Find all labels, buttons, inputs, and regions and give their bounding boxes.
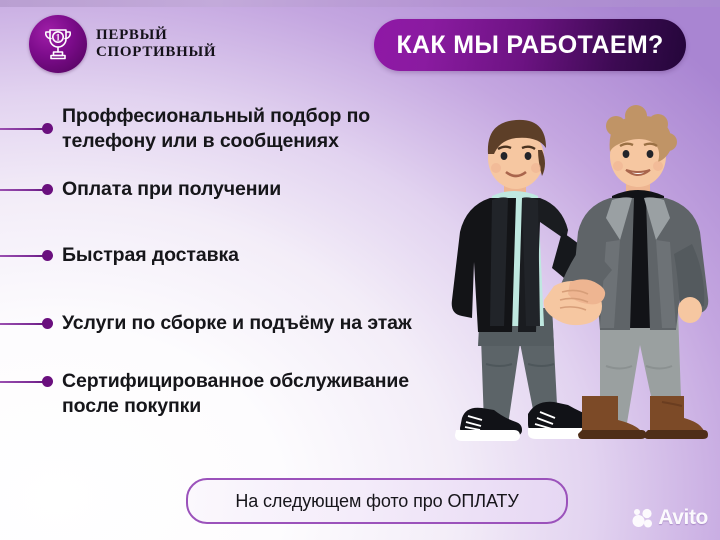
list-item: Услуги по сборке и подъёму на этаж bbox=[0, 311, 450, 351]
left-eye-l bbox=[501, 152, 508, 160]
top-accent-strip bbox=[0, 0, 720, 7]
list-item: Проффесиональный подбор по телефону или … bbox=[0, 104, 450, 155]
right-person bbox=[558, 105, 708, 439]
list-item: Быстрая доставка bbox=[0, 243, 450, 283]
left-eye-r bbox=[525, 152, 532, 160]
avito-watermark: Avito bbox=[632, 506, 708, 530]
left-person-head bbox=[488, 120, 546, 189]
avito-wordmark: Avito bbox=[658, 506, 708, 530]
trophy-icon: 1 bbox=[40, 25, 76, 63]
poster-canvas: 1 ПЕРВЫЙ СПОРТИВНЫЙ КАК МЫ РАБОТАЕМ? Про… bbox=[0, 0, 720, 540]
list-item: Оплата при получении bbox=[0, 177, 450, 217]
list-item-label: Оплата при получении bbox=[0, 177, 450, 202]
list-item-label: Услуги по сборке и подъёму на этаж bbox=[0, 311, 450, 336]
logo-line-1: ПЕРВЫЙ bbox=[96, 27, 216, 44]
brand-logo: 1 ПЕРВЫЙ СПОРТИВНЫЙ bbox=[29, 15, 216, 73]
handshake-hands bbox=[544, 279, 605, 325]
logo-wordmark: ПЕРВЫЙ СПОРТИВНЫЙ bbox=[96, 27, 216, 62]
list-item-label: Сертифицированное обслуживание после пок… bbox=[0, 369, 450, 420]
right-person-hand-down bbox=[678, 297, 702, 323]
logo-line-2: СПОРТИВНЫЙ bbox=[96, 44, 216, 61]
list-item-label: Проффесиональный подбор по телефону или … bbox=[0, 104, 450, 155]
next-photo-callout: На следующем фото про ОПЛАТУ bbox=[186, 478, 568, 524]
avito-dots-icon bbox=[632, 508, 654, 528]
right-eye-r bbox=[647, 150, 654, 158]
list-item: Сертифицированное обслуживание после пок… bbox=[0, 369, 450, 420]
logo-badge: 1 bbox=[29, 15, 87, 73]
page-title: КАК МЫ РАБОТАЕМ? bbox=[396, 31, 663, 60]
benefits-list: Проффесиональный подбор по телефону или … bbox=[0, 104, 450, 419]
right-eye-l bbox=[623, 150, 630, 158]
handshake-illustration-svg bbox=[430, 96, 720, 464]
header-title-pill: КАК МЫ РАБОТАЕМ? bbox=[374, 19, 686, 71]
right-person-boots bbox=[578, 396, 708, 439]
list-item-label: Быстрая доставка bbox=[0, 243, 450, 268]
two-men-handshake-illustration bbox=[430, 96, 720, 464]
callout-label: На следующем фото про ОПЛАТУ bbox=[235, 491, 518, 512]
svg-text:1: 1 bbox=[56, 33, 61, 43]
right-person-head bbox=[606, 105, 677, 187]
